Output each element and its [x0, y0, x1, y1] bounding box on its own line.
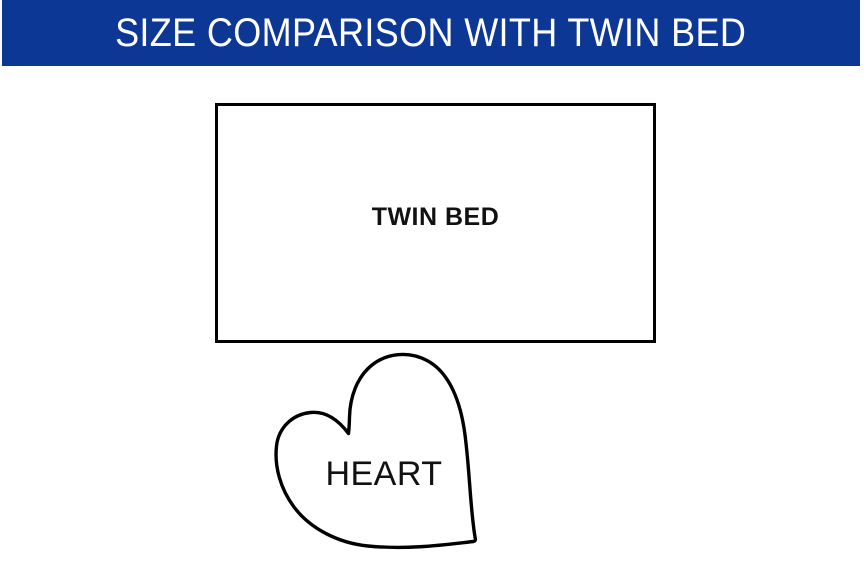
- page-title: SIZE COMPARISON WITH TWIN BED: [115, 13, 746, 53]
- twin-bed-label: TWIN BED: [372, 205, 500, 230]
- heart-outline-icon: [268, 349, 484, 559]
- size-comparison-page: SIZE COMPARISON WITH TWIN BED TWIN BED H…: [0, 0, 864, 575]
- comparison-stage: TWIN BED HEART: [0, 66, 864, 575]
- twin-bed-shape: TWIN BED: [215, 103, 656, 343]
- header-banner: SIZE COMPARISON WITH TWIN BED: [2, 0, 860, 66]
- heart-shape: HEART: [268, 349, 484, 559]
